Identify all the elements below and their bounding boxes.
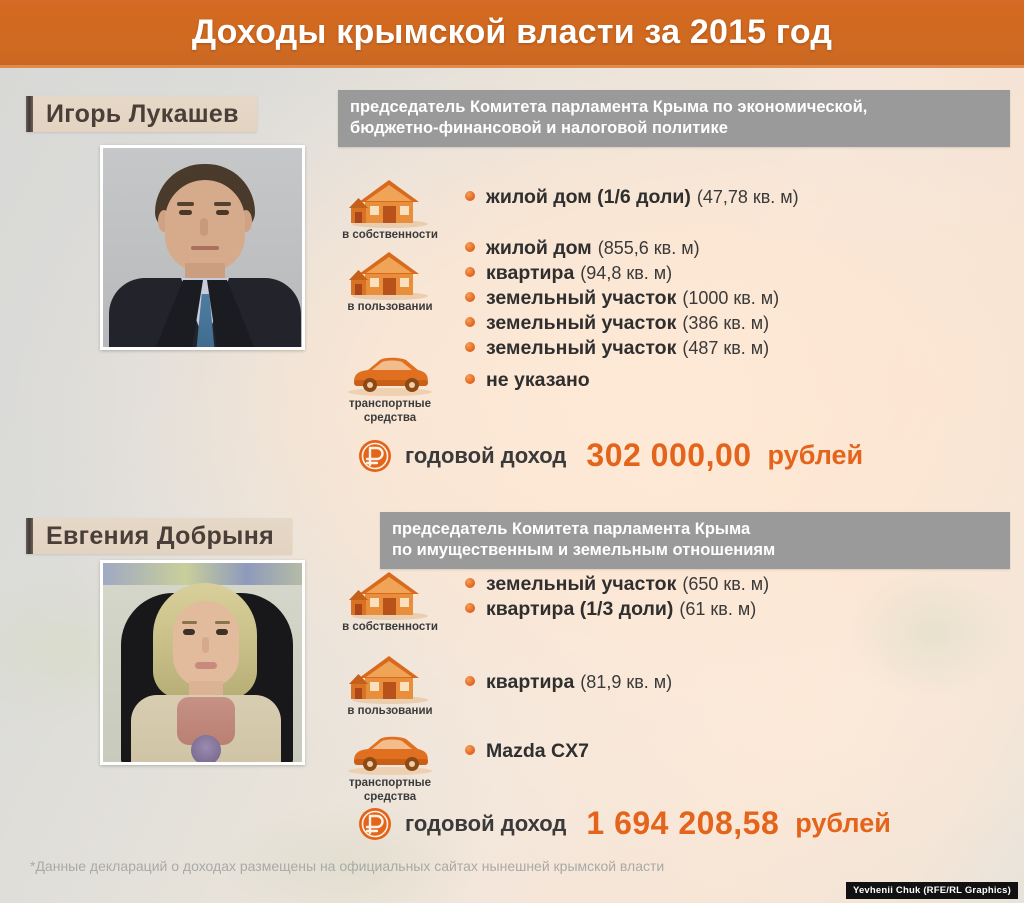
- nameplate-0: Игорь Лукашев: [26, 96, 257, 132]
- income-currency: рублей: [795, 808, 891, 839]
- icon-caption-owned: в собственности: [330, 621, 450, 634]
- property-row: жилой дом (1/6 доли)(47,78 кв. м): [465, 185, 799, 210]
- property-area: (61 кв. м): [679, 597, 756, 622]
- position-line-2: по имущественным и земельным отношениям: [392, 540, 998, 561]
- bullet-dot-icon: [465, 242, 475, 252]
- icon-caption-transport-1: транспортные: [330, 398, 450, 411]
- property-name: квартира (1/3 доли): [486, 597, 673, 622]
- position-line-2: бюджетно-финансовой и налоговой политике: [350, 118, 998, 139]
- property-row: земельный участок(650 кв. м): [465, 572, 769, 597]
- property-row: земельный участок(386 кв. м): [465, 311, 779, 336]
- property-area: (855,6 кв. м): [598, 236, 700, 261]
- property-list-transport-1: Mazda CX7: [465, 739, 589, 764]
- bullet-dot-icon: [465, 191, 475, 201]
- income-row-0: годовой доход 302 000,00 рублей: [357, 437, 863, 474]
- property-list-used-0: жилой дом(855,6 кв. м)квартира(94,8 кв. …: [465, 236, 779, 361]
- property-name: жилой дом (1/6 доли): [486, 185, 691, 210]
- property-row: квартира(81,9 кв. м): [465, 670, 672, 695]
- property-area: (386 кв. м): [682, 311, 769, 336]
- property-list-used-1: квартира(81,9 кв. м): [465, 670, 672, 695]
- property-name: земельный участок: [486, 286, 676, 311]
- bullet-dot-icon: [465, 676, 475, 686]
- property-area: (487 кв. м): [682, 336, 769, 361]
- person-block-0: Игорь Лукашев председатель Комитета парл…: [0, 68, 1024, 488]
- infographic-canvas: Доходы крымской власти за 2015 год Игорь…: [0, 0, 1024, 903]
- position-plate-1: председатель Комитета парламента Крыма п…: [380, 512, 1010, 569]
- person-photo-1: [100, 560, 305, 765]
- icon-caption-transport-2: средства: [330, 412, 450, 425]
- property-area: (1000 кв. м): [682, 286, 779, 311]
- icon-caption-used: в пользовании: [330, 705, 450, 718]
- property-area: (47,78 кв. м): [697, 185, 799, 210]
- person-photo-0: [100, 145, 305, 350]
- nameplate-accent-bar: [26, 518, 33, 554]
- credit-badge: Yevhenii Chuk (RFE/RL Graphics): [846, 882, 1018, 899]
- property-area: (650 кв. м): [682, 572, 769, 597]
- page-title: Доходы крымской власти за 2015 год: [192, 13, 832, 52]
- bullet-dot-icon: [465, 603, 475, 613]
- property-list-transport-0: не указано: [465, 368, 590, 393]
- property-row: квартира (1/3 доли)(61 кв. м): [465, 597, 769, 622]
- position-line-1: председатель Комитета парламента Крыма п…: [350, 97, 998, 118]
- icon-caption-transport-2: средства: [330, 791, 450, 804]
- footnote: *Данные деклараций о доходах размещены н…: [30, 858, 930, 874]
- property-name: жилой дом: [486, 236, 592, 261]
- house-icon: [349, 176, 431, 228]
- property-name: Mazda CX7: [486, 739, 589, 764]
- property-name: земельный участок: [486, 572, 676, 597]
- property-row: не указано: [465, 368, 590, 393]
- property-row: Mazda CX7: [465, 739, 589, 764]
- ruble-coin-icon: [357, 438, 393, 474]
- position-plate-0: председатель Комитета парламента Крыма п…: [338, 90, 1010, 147]
- icon-caption-used: в пользовании: [330, 301, 450, 314]
- bullet-dot-icon: [465, 578, 475, 588]
- property-name: земельный участок: [486, 311, 676, 336]
- income-amount-0: 302 000,00: [586, 437, 751, 474]
- property-row: земельный участок(487 кв. м): [465, 336, 779, 361]
- position-line-1: председатель Комитета парламента Крыма: [392, 519, 998, 540]
- property-row: квартира(94,8 кв. м): [465, 261, 779, 286]
- house-icon: [349, 568, 431, 620]
- bullet-dot-icon: [465, 317, 475, 327]
- icon-caption-transport-1: транспортные: [330, 777, 450, 790]
- property-name: не указано: [486, 368, 590, 393]
- bullet-dot-icon: [465, 745, 475, 755]
- income-label: годовой доход: [405, 443, 566, 469]
- bullet-dot-icon: [465, 342, 475, 352]
- property-name: квартира: [486, 261, 574, 286]
- property-name: земельный участок: [486, 336, 676, 361]
- property-list-owned-1: земельный участок(650 кв. м)квартира (1/…: [465, 572, 769, 622]
- property-row: земельный участок(1000 кв. м): [465, 286, 779, 311]
- icon-caption-owned: в собственности: [330, 229, 450, 242]
- person-block-1: Евгения Добрыня председатель Комитета па…: [0, 490, 1024, 845]
- person-name-0: Игорь Лукашев: [46, 100, 239, 129]
- income-label: годовой доход: [405, 811, 566, 837]
- bullet-dot-icon: [465, 267, 475, 277]
- person-name-1: Евгения Добрыня: [46, 522, 274, 551]
- income-amount-1: 1 694 208,58: [586, 805, 779, 842]
- icon-cell-used-0: в пользовании: [330, 248, 450, 314]
- property-area: (94,8 кв. м): [580, 261, 672, 286]
- icon-cell-owned-1: в собственности: [330, 568, 450, 634]
- property-name: квартира: [486, 670, 574, 695]
- bullet-dot-icon: [465, 374, 475, 384]
- nameplate-accent-bar: [26, 96, 33, 132]
- car-icon: [344, 730, 436, 776]
- ruble-coin-icon: [357, 806, 393, 842]
- property-list-owned-0: жилой дом (1/6 доли)(47,78 кв. м): [465, 185, 799, 210]
- nameplate-1: Евгения Добрыня: [26, 518, 292, 554]
- car-icon: [344, 351, 436, 397]
- header-bar: Доходы крымской власти за 2015 год: [0, 0, 1024, 68]
- income-row-1: годовой доход 1 694 208,58 рублей: [357, 805, 891, 842]
- icon-cell-owned-0: в собственности: [330, 176, 450, 242]
- property-area: (81,9 кв. м): [580, 670, 672, 695]
- bullet-dot-icon: [465, 292, 475, 302]
- house-icon: [349, 652, 431, 704]
- property-row: жилой дом(855,6 кв. м): [465, 236, 779, 261]
- house-icon: [349, 248, 431, 300]
- income-currency: рублей: [768, 440, 864, 471]
- icon-cell-transport-0: транспортные средства: [330, 351, 450, 425]
- icon-cell-used-1: в пользовании: [330, 652, 450, 718]
- icon-cell-transport-1: транспортные средства: [330, 730, 450, 804]
